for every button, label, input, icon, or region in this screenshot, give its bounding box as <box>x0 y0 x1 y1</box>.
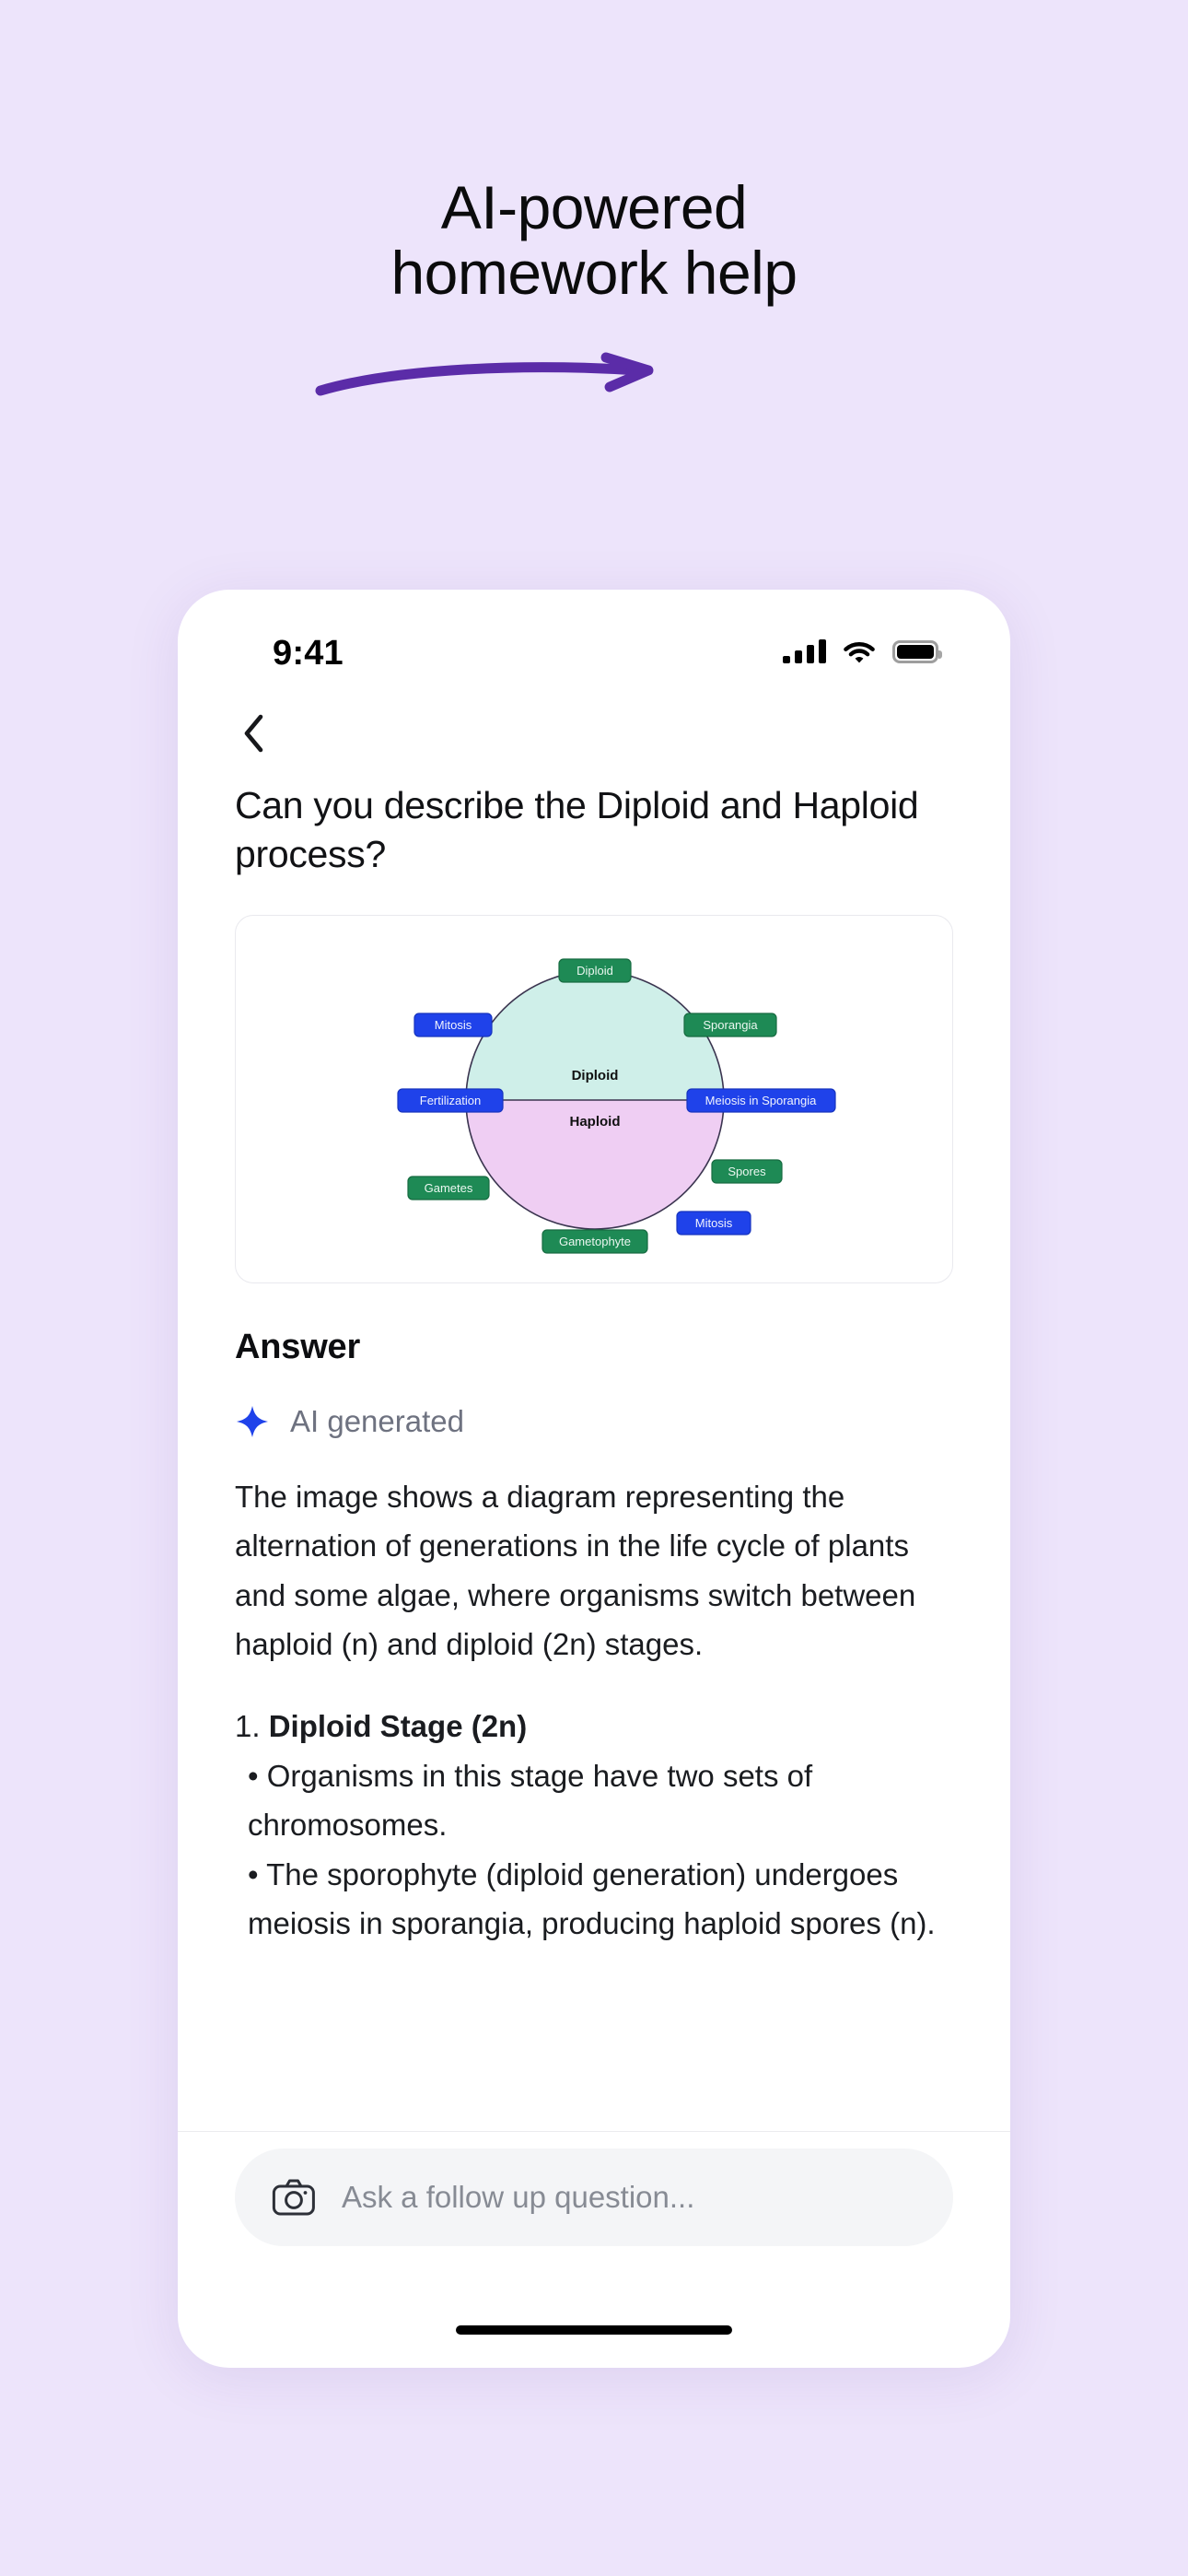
svg-text:Mitosis: Mitosis <box>695 1216 733 1230</box>
answer-heading: Answer <box>235 1328 953 1367</box>
diagram-node-gametophyte: Gametophyte <box>542 1230 647 1253</box>
diagram-node-mitosis-upper: Mitosis <box>414 1013 492 1036</box>
question-text: Can you describe the Diploid and Haploid… <box>178 778 1010 880</box>
svg-text:Sporangia: Sporangia <box>703 1018 758 1032</box>
diagram-node-gametes: Gametes <box>408 1177 489 1200</box>
signal-bars-icon <box>783 639 826 663</box>
answer-bullet: • The sporophyte (diploid generation) un… <box>235 1850 953 1949</box>
promo-headline-line-1: AI-powered <box>0 175 1188 240</box>
phone-mockup: 9:41 Can you describe the Diploid and Ha… <box>178 590 1010 2368</box>
diagram-node-sporangia: Sporangia <box>684 1013 776 1036</box>
svg-text:Fertilization: Fertilization <box>420 1094 481 1107</box>
promo-arrow-icon <box>313 350 681 405</box>
back-button[interactable] <box>226 706 281 761</box>
promo-headline-line-2: homework help <box>0 240 1188 306</box>
ai-generated-label: AI generated <box>290 1404 464 1439</box>
alternation-of-generations-diagram: Diploid Haploid Diploid Sporangia Mitosi… <box>236 916 953 1283</box>
answer-bullet: • Organisms in this stage have two sets … <box>235 1751 953 1850</box>
diagram-node-spores: Spores <box>712 1160 782 1183</box>
status-bar: 9:41 <box>178 590 1010 689</box>
answer-section: Answer AI generated The image shows a di… <box>178 1283 1010 1949</box>
svg-text:Spores: Spores <box>728 1165 766 1178</box>
diagram-node-mitosis-lower: Mitosis <box>677 1212 751 1235</box>
diagram-node-diploid: Diploid <box>559 959 631 982</box>
answer-section-heading: 1. Diploid Stage (2n) <box>235 1702 953 1751</box>
chevron-left-icon <box>241 713 265 754</box>
camera-icon[interactable] <box>272 2178 316 2217</box>
battery-icon <box>892 640 938 663</box>
nav-bar <box>178 689 1010 778</box>
answer-section-number: 1. <box>235 1709 261 1743</box>
svg-text:Gametophyte: Gametophyte <box>559 1235 631 1248</box>
diagram-node-meiosis-in-sporangia: Meiosis in Sporangia <box>687 1089 835 1112</box>
promo-headline: AI-powered homework help <box>0 175 1188 307</box>
diagram-inner-label-diploid: Diploid <box>572 1068 619 1083</box>
wifi-icon <box>843 639 876 664</box>
diagram-inner-label-haploid: Haploid <box>570 1114 621 1130</box>
diagram-card[interactable]: Diploid Haploid Diploid Sporangia Mitosi… <box>235 915 953 1283</box>
sparkle-icon <box>235 1404 270 1439</box>
status-bar-time: 9:41 <box>273 634 344 673</box>
svg-text:Mitosis: Mitosis <box>435 1018 472 1032</box>
svg-text:Diploid: Diploid <box>577 964 613 978</box>
composer-divider <box>178 2131 1010 2133</box>
followup-composer[interactable]: Ask a follow up question... <box>235 2149 953 2246</box>
svg-text:Gametes: Gametes <box>425 1181 473 1195</box>
svg-text:Meiosis in Sporangia: Meiosis in Sporangia <box>705 1094 817 1107</box>
ai-generated-badge: AI generated <box>235 1404 953 1439</box>
home-indicator <box>456 2325 732 2335</box>
diagram-node-fertilization: Fertilization <box>398 1089 503 1112</box>
answer-paragraph: The image shows a diagram representing t… <box>235 1472 953 1669</box>
status-bar-icons <box>783 634 938 669</box>
followup-input-placeholder[interactable]: Ask a follow up question... <box>342 2180 694 2215</box>
answer-section-title: Diploid Stage (2n) <box>269 1709 528 1743</box>
